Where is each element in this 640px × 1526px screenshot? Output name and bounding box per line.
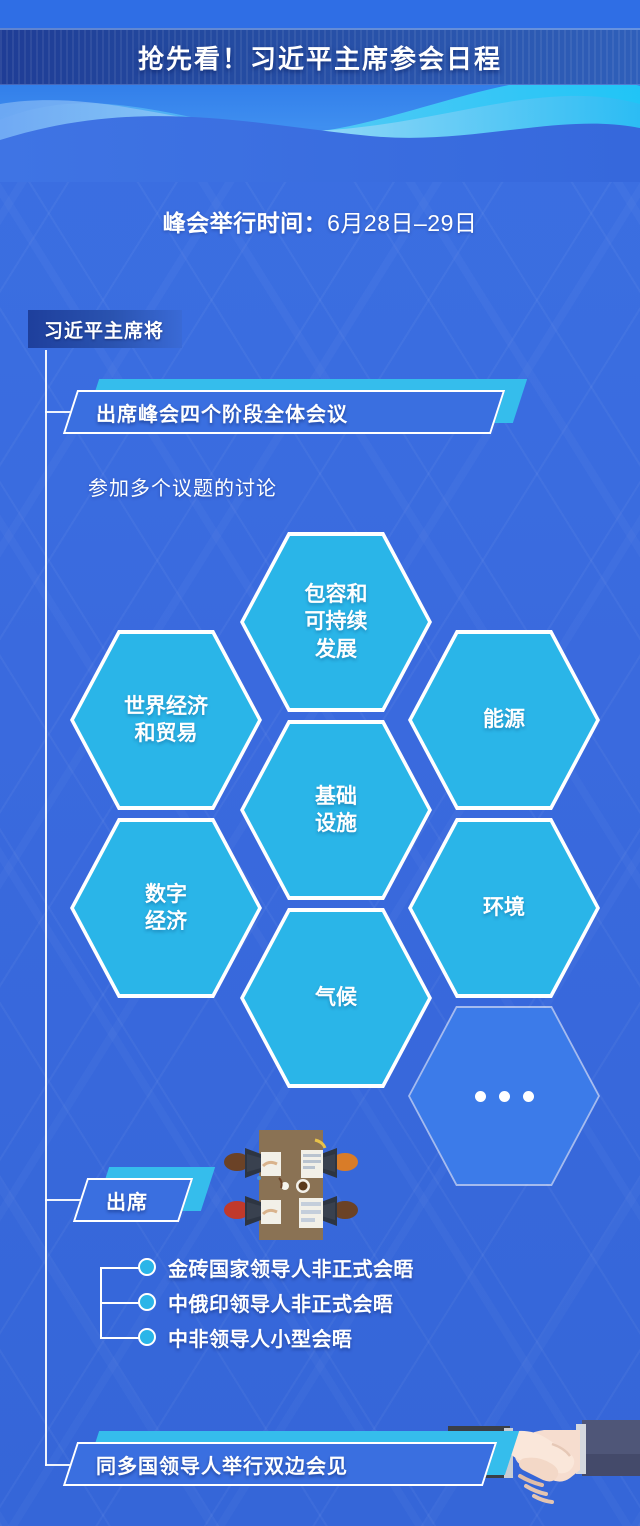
hex-topic-environment[interactable]: 环境 [412,822,596,994]
hex-label-line: 经济 [145,908,187,935]
plenary-subtext: 参加多个议题的讨论 [88,472,277,501]
attend-meetings-list: 金砖国家领导人非正式会晤 中俄印领导人非正式会晤 中非领导人小型会晤 [100,1250,520,1355]
ellipsis-icon [475,1091,534,1102]
bullet-connector [100,1302,140,1304]
list-item-label: 金砖国家领导人非正式会晤 [168,1253,414,1282]
hex-topic-climate[interactable]: 气候 [244,912,428,1084]
bullet-connector-vertical [100,1267,102,1285]
badge-attend[interactable]: 出席 [80,1178,186,1222]
hex-topic-more[interactable] [410,1008,598,1184]
hex-topic-inclusive-sustainable-development[interactable]: 包容和 可持续 发展 [244,536,428,708]
header: 抢先看！习近平主席参会日程 [0,0,640,182]
hex-topic-infrastructure[interactable]: 基础 设施 [244,724,428,896]
badge-bilateral-label: 同多国领导人举行双边会见 [70,1450,348,1479]
hex-label-line: 可持续 [305,608,368,635]
hex-label-line: 基础 [315,783,357,810]
title-band: 抢先看！习近平主席参会日程 [0,28,640,85]
page-title: 抢先看！习近平主席参会日程 [138,39,502,76]
list-item[interactable]: 中非领导人小型会晤 [100,1320,520,1355]
meeting-table-icon [215,1126,367,1244]
hex-topic-digital-economy[interactable]: 数字 经济 [74,822,258,994]
badge-attend-plenary[interactable]: 出席峰会四个阶段全体会议 [70,390,498,434]
list-item-label: 中非领导人小型会晤 [168,1323,353,1352]
bullet-dot-icon [138,1328,156,1346]
list-item[interactable]: 金砖国家领导人非正式会晤 [100,1250,520,1285]
hex-label-line: 发展 [305,636,368,663]
badge-attend-plenary-label: 出席峰会四个阶段全体会议 [70,398,348,427]
infographic-page: 抢先看！习近平主席参会日程 峰会举行时间：6月28日–29日 习近平主席将 出席… [0,0,640,1526]
hex-label-line: 能源 [483,706,525,733]
hex-label-line: 气候 [315,984,357,1011]
hex-label-line: 设施 [315,810,357,837]
bullet-connector [100,1267,140,1269]
hex-label-line: 包容和 [305,581,368,608]
bullet-dot-icon [138,1258,156,1276]
badge-attend-label: 出席 [80,1186,148,1215]
topics-hex-grid: 包容和 可持续 发展 世界经济 和贸易 能源 基础 设施 [0,520,640,1160]
summit-date-label: 峰会举行时间： [163,210,328,236]
bullet-dot-icon [138,1293,156,1311]
list-item[interactable]: 中俄印领导人非正式会晤 [100,1285,520,1320]
hex-topic-world-economy-and-trade[interactable]: 世界经济 和贸易 [74,634,258,806]
hex-topic-energy[interactable]: 能源 [412,634,596,806]
badge-bilateral[interactable]: 同多国领导人举行双边会见 [70,1442,490,1486]
list-item-label: 中俄印领导人非正式会晤 [168,1288,394,1317]
summit-date: 峰会举行时间：6月28日–29日 [0,204,640,238]
summit-date-value: 6月28日–29日 [327,210,477,236]
bullet-connector [100,1337,140,1339]
hex-label-line: 环境 [483,894,525,921]
hex-label-line: 世界经济 [124,693,208,720]
hex-label-line: 和贸易 [124,720,208,747]
main-tag-label: 习近平主席将 [44,316,164,343]
hex-label-line: 数字 [145,881,187,908]
main-tag: 习近平主席将 [28,310,182,348]
